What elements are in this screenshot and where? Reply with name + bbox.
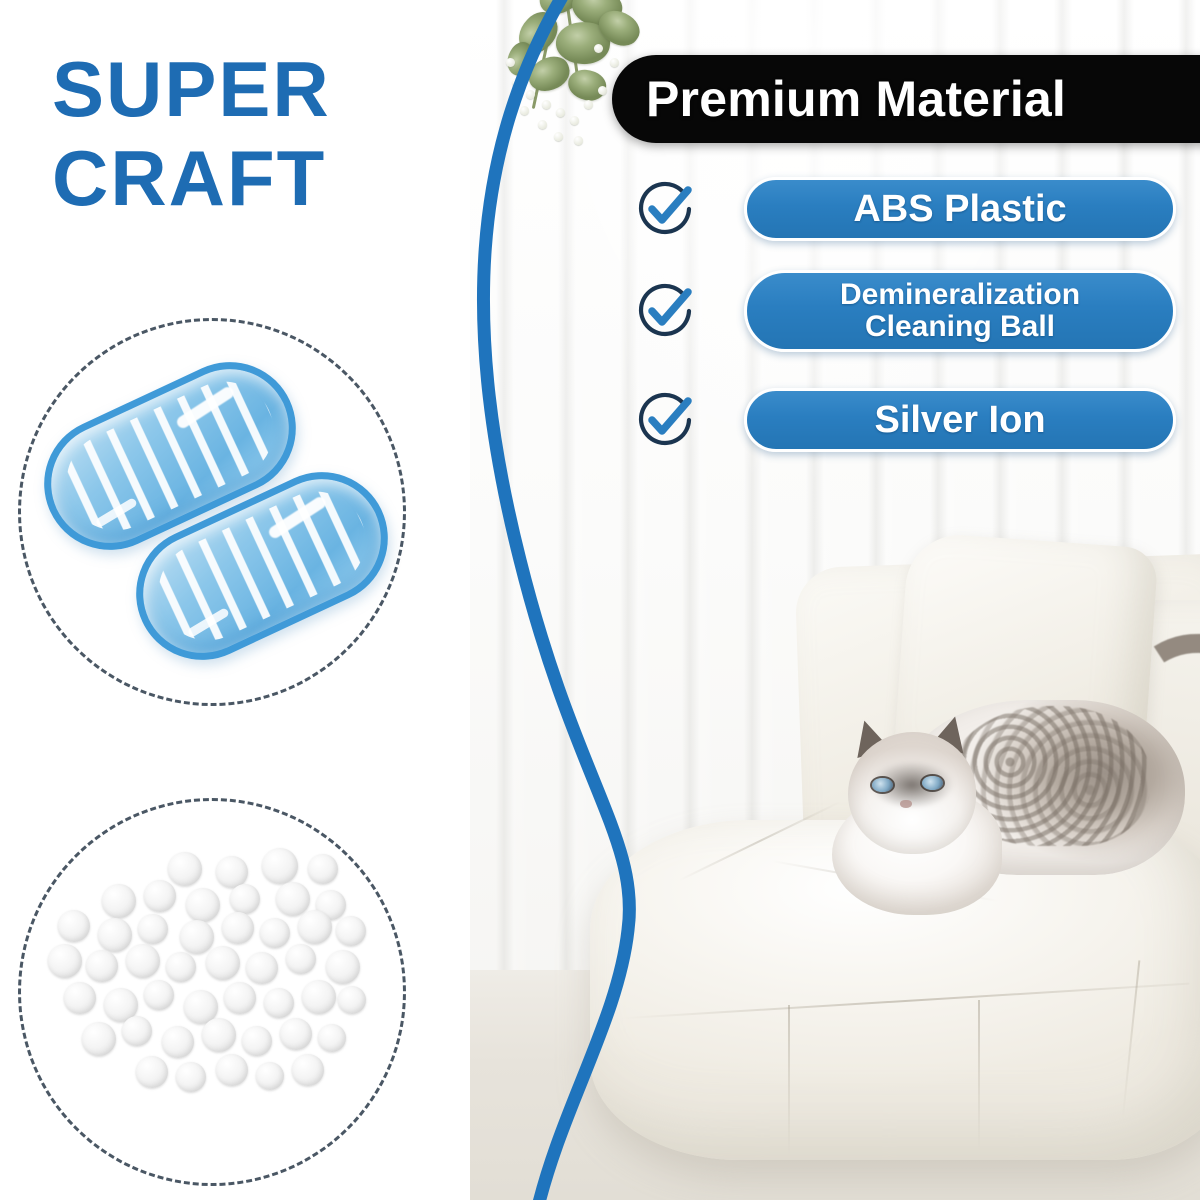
- mineral-bead: [144, 880, 176, 912]
- mineral-bead: [298, 910, 332, 944]
- cat-nose: [900, 800, 912, 808]
- mineral-bead: [166, 952, 196, 982]
- feature-label-line-2: Cleaning Ball: [865, 311, 1055, 343]
- mineral-bead: [138, 914, 168, 944]
- mineral-bead: [230, 884, 260, 914]
- feature-row-silver-ion: Silver Ion: [634, 388, 1176, 452]
- mineral-bead: [168, 852, 202, 886]
- mineral-bead: [206, 946, 240, 980]
- feature-pill-silver-ion[interactable]: Silver Ion: [744, 388, 1176, 452]
- mineral-bead: [262, 848, 298, 884]
- mineral-bead: [186, 888, 220, 922]
- product-marketing-poster: SUPER CRAFT Premium Material ABS Plastic: [0, 0, 1200, 1200]
- mineral-bead: [64, 982, 96, 1014]
- feature-label-line-1: Demineralization: [840, 279, 1080, 311]
- feature-row-abs-plastic: ABS Plastic: [634, 177, 1176, 241]
- headline-line-1: SUPER: [52, 45, 331, 133]
- mineral-bead: [276, 882, 310, 916]
- ragdoll-cat: [830, 640, 1200, 930]
- mineral-bead: [222, 912, 254, 944]
- feature-label: ABS Plastic: [853, 188, 1066, 231]
- check-circle-icon: [634, 389, 696, 451]
- mineral-bead: [82, 1022, 116, 1056]
- mineral-beads-pile: [40, 840, 380, 1130]
- mineral-bead: [224, 982, 256, 1014]
- mineral-bead: [102, 884, 136, 918]
- premium-material-badge: Premium Material: [612, 55, 1200, 143]
- mineral-bead: [144, 980, 174, 1010]
- mineral-bead: [338, 986, 366, 1014]
- mineral-bead: [180, 920, 214, 954]
- mineral-bead: [126, 944, 160, 978]
- cat-eye-left: [872, 778, 893, 792]
- cushion-seam: [978, 1000, 980, 1150]
- mineral-bead: [136, 1056, 168, 1088]
- mineral-bead: [260, 918, 290, 948]
- cat-eye-right: [922, 776, 943, 790]
- headline-line-2: CRAFT: [52, 141, 452, 216]
- mineral-bead: [216, 1054, 248, 1086]
- feature-pill-abs-plastic[interactable]: ABS Plastic: [744, 177, 1176, 241]
- cushion-seam: [788, 1005, 790, 1155]
- mineral-bead: [202, 1018, 236, 1052]
- mineral-bead: [58, 910, 90, 942]
- mineral-bead: [308, 854, 338, 884]
- mineral-bead: [86, 950, 118, 982]
- check-circle-icon: [634, 280, 696, 342]
- feature-label: Silver Ion: [874, 399, 1045, 442]
- headline: SUPER CRAFT: [52, 52, 452, 216]
- mineral-bead: [336, 916, 366, 946]
- mineral-bead: [98, 918, 132, 952]
- mineral-bead: [122, 1016, 152, 1046]
- mineral-bead: [318, 1024, 346, 1052]
- mineral-bead: [176, 1062, 206, 1092]
- mineral-bead: [48, 944, 82, 978]
- mineral-bead: [292, 1054, 324, 1086]
- mineral-bead: [302, 980, 336, 1014]
- mineral-bead: [246, 952, 278, 984]
- mineral-bead: [242, 1026, 272, 1056]
- mineral-bead: [256, 1062, 284, 1090]
- mineral-bead: [286, 944, 316, 974]
- check-circle-icon: [634, 178, 696, 240]
- mineral-bead: [264, 988, 294, 1018]
- feature-pill-demineralization[interactable]: Demineralization Cleaning Ball: [744, 270, 1176, 352]
- mineral-bead: [280, 1018, 312, 1050]
- feature-row-demineralization: Demineralization Cleaning Ball: [634, 270, 1176, 352]
- mineral-bead: [326, 950, 360, 984]
- badge-title: Premium Material: [646, 70, 1066, 128]
- mineral-bead: [162, 1026, 194, 1058]
